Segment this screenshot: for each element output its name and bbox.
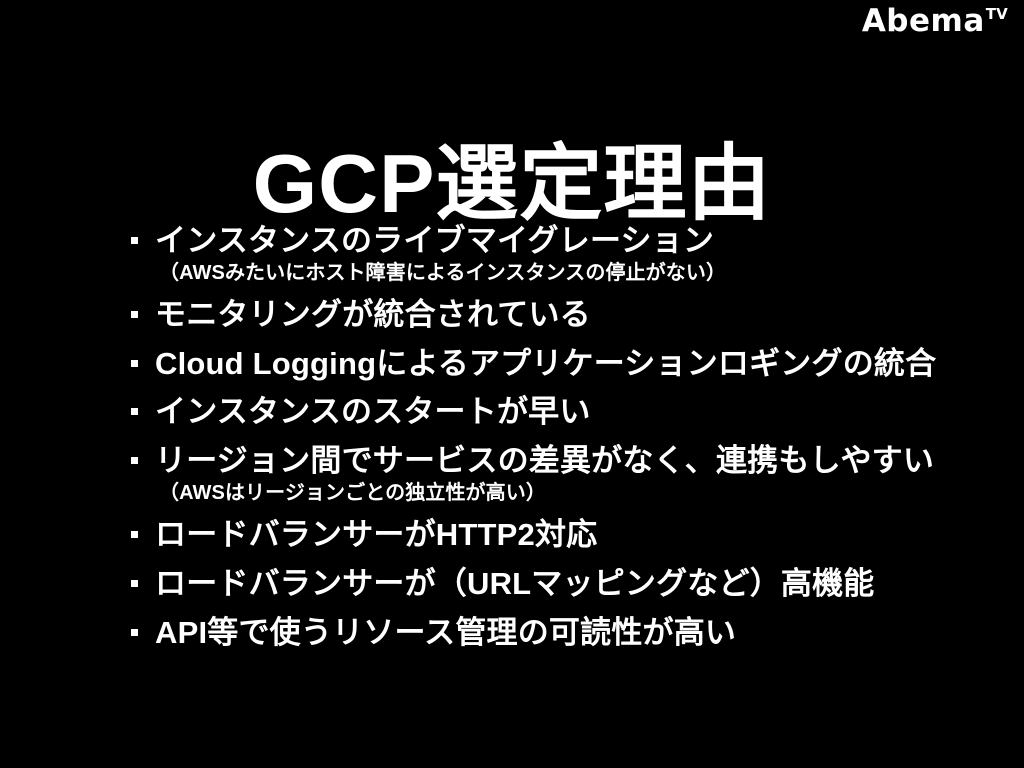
square-bullet-icon bbox=[131, 408, 138, 415]
bullet-row: API等で使うリソース管理の可読性が高い bbox=[131, 614, 1011, 652]
bullet-text: ロードバランサーがHTTP2対応 bbox=[155, 516, 597, 554]
bullet-text: リージョン間でサービスの差異がなく、連携もしやすい bbox=[155, 442, 934, 480]
bullet-row: リージョン間でサービスの差異がなく、連携もしやすい bbox=[131, 442, 1011, 480]
bullet-item: ロードバランサーが（URLマッピングなど）高機能 bbox=[131, 565, 1011, 603]
brand-superscript-text: TV bbox=[986, 7, 1008, 22]
square-bullet-icon bbox=[131, 580, 138, 587]
bullet-note: （AWSはリージョンごとの独立性が高い） bbox=[159, 481, 1011, 505]
bullet-text: インスタンスのライブマイグレーション bbox=[155, 222, 714, 260]
bullet-item: Cloud Loggingによるアプリケーションロギングの統合 bbox=[131, 345, 1011, 383]
bullet-item: API等で使うリソース管理の可読性が高い bbox=[131, 614, 1011, 652]
bullet-item: ロードバランサーがHTTP2対応 bbox=[131, 516, 1011, 554]
bullet-item: モニタリングが統合されている bbox=[131, 296, 1011, 334]
brand-name-text: Abema bbox=[862, 6, 985, 37]
bullet-row: モニタリングが統合されている bbox=[131, 296, 1011, 334]
abematv-logo: Abema TV bbox=[862, 6, 1008, 37]
square-bullet-icon bbox=[131, 457, 138, 464]
bullet-text: モニタリングが統合されている bbox=[155, 296, 591, 334]
bullet-row: ロードバランサーが（URLマッピングなど）高機能 bbox=[131, 565, 1011, 603]
square-bullet-icon bbox=[131, 237, 138, 244]
bullet-text: インスタンスのスタートが早い bbox=[155, 393, 591, 431]
bullet-row: ロードバランサーがHTTP2対応 bbox=[131, 516, 1011, 554]
bullet-item: インスタンスのスタートが早い bbox=[131, 393, 1011, 431]
square-bullet-icon bbox=[131, 311, 138, 318]
bullet-row: Cloud Loggingによるアプリケーションロギングの統合 bbox=[131, 345, 1011, 383]
bullet-text: Cloud Loggingによるアプリケーションロギングの統合 bbox=[155, 345, 936, 383]
bullet-note: （AWSみたいにホスト障害によるインスタンスの停止がない） bbox=[159, 261, 1011, 285]
square-bullet-icon bbox=[131, 531, 138, 538]
square-bullet-icon bbox=[131, 360, 138, 367]
bullet-text: API等で使うリソース管理の可読性が高い bbox=[155, 614, 736, 652]
slide-canvas: Abema TV GCP選定理由 インスタンスのライブマイグレーション （AWS… bbox=[0, 0, 1024, 768]
bullet-text: ロードバランサーが（URLマッピングなど）高機能 bbox=[155, 565, 875, 603]
bullet-item: インスタンスのライブマイグレーション （AWSみたいにホスト障害によるインスタン… bbox=[131, 222, 1011, 285]
bullet-row: インスタンスのスタートが早い bbox=[131, 393, 1011, 431]
bullet-row: インスタンスのライブマイグレーション bbox=[131, 222, 1011, 260]
bullet-item: リージョン間でサービスの差異がなく、連携もしやすい （AWSはリージョンごとの独… bbox=[131, 442, 1011, 505]
bullet-list: インスタンスのライブマイグレーション （AWSみたいにホスト障害によるインスタン… bbox=[131, 222, 1011, 652]
square-bullet-icon bbox=[131, 629, 138, 636]
slide-title: GCP選定理由 bbox=[0, 142, 1024, 225]
